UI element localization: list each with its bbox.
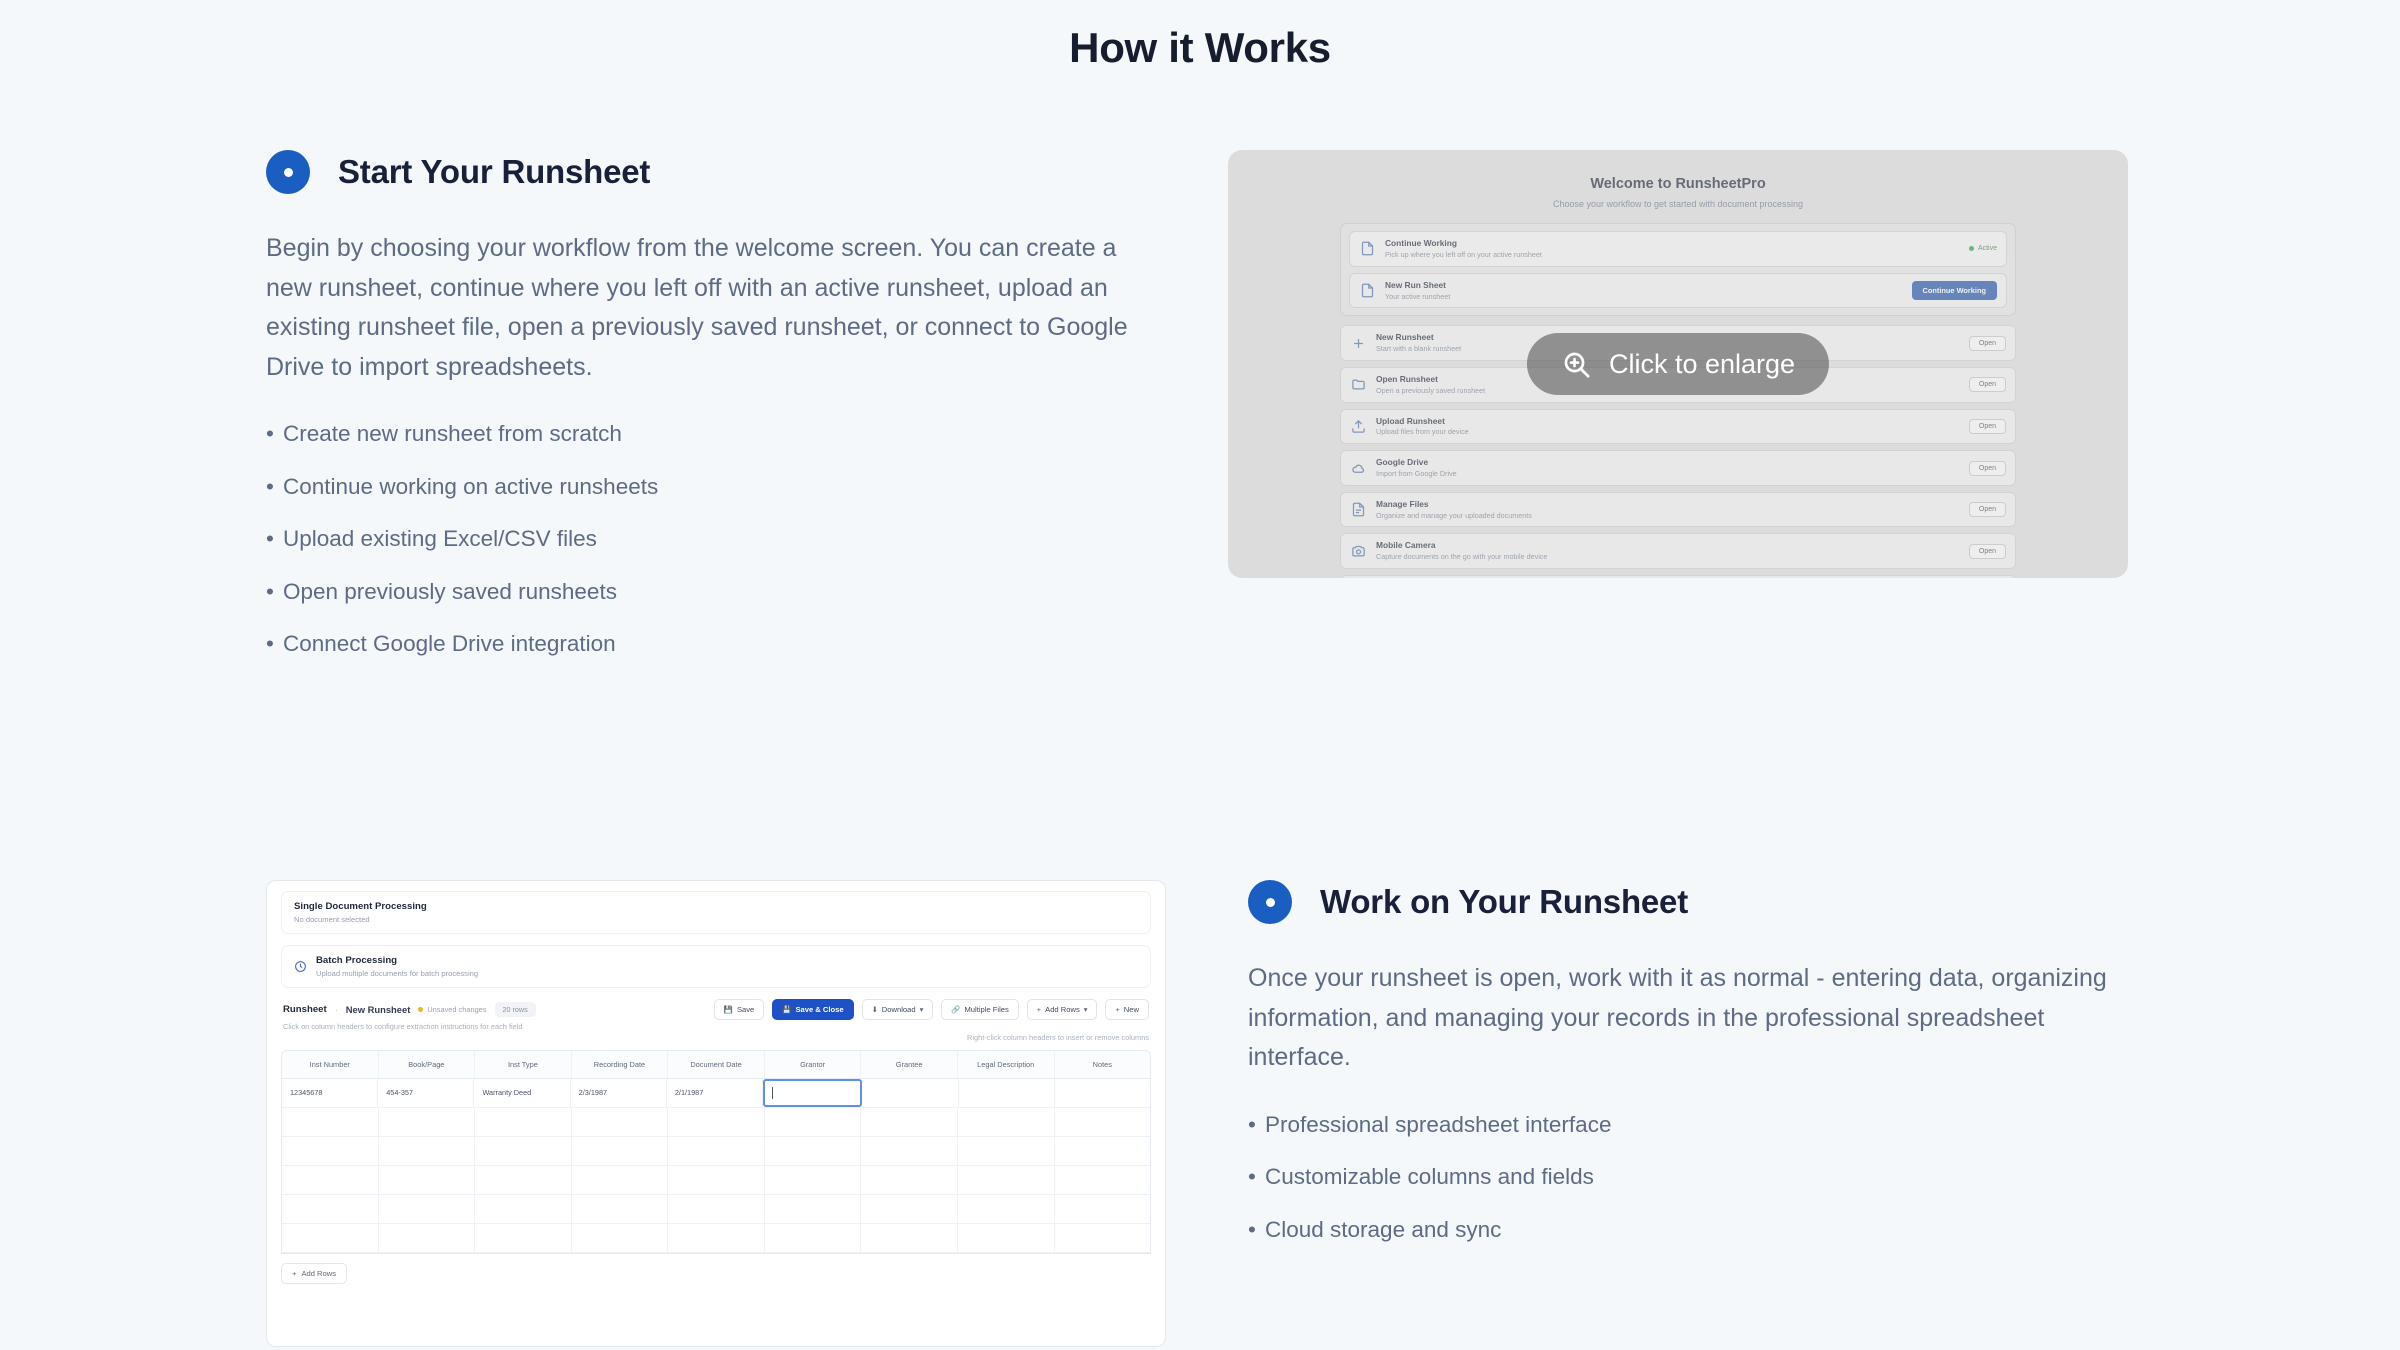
save-button[interactable]: 💾 Save xyxy=(714,999,765,1020)
table-row xyxy=(282,1195,1150,1224)
unsaved-pip-icon xyxy=(418,1007,423,1012)
table-cell[interactable] xyxy=(765,1195,862,1223)
status-badge: Active xyxy=(1969,245,1997,252)
welcome-option-open-button[interactable]: Open xyxy=(1969,377,2006,392)
welcome-mock-continue-texts: Continue Working Pick up where you left … xyxy=(1385,238,1960,260)
save-and-close-button-label: Save & Close xyxy=(795,1005,843,1014)
column-header-grantee[interactable]: Grantee xyxy=(861,1051,958,1078)
table-cell[interactable] xyxy=(861,1224,958,1252)
welcome-mock-active-sheet-texts: New Run Sheet Your active runsheet xyxy=(1385,280,1903,302)
section-start-your-runsheet: Start Your Runsheet Begin by choosing yo… xyxy=(266,150,2126,686)
download-button[interactable]: ⬇ Download ▾ xyxy=(862,999,934,1020)
table-row: 12345678 454-357 Warranty Deed 2/3/1987 … xyxy=(282,1079,1150,1108)
welcome-mock-subtitle: Choose your workflow to get started with… xyxy=(1340,199,2016,209)
welcome-option-name: Mobile Camera xyxy=(1376,540,1960,551)
single-doc-subtitle: No document selected xyxy=(294,915,1138,924)
continue-working-button[interactable]: Continue Working xyxy=(1912,281,1998,300)
table-cell[interactable] xyxy=(668,1166,765,1194)
table-cell[interactable] xyxy=(475,1224,572,1252)
table-cell[interactable] xyxy=(379,1224,476,1252)
table-cell[interactable] xyxy=(475,1108,572,1136)
welcome-option-upload-runsheet[interactable]: Upload Runsheet Upload files from your d… xyxy=(1340,409,2016,445)
list-item: Customizable columns and fields xyxy=(1248,1166,2128,1189)
welcome-option-texts: Mobile Camera Capture documents on the g… xyxy=(1376,540,1960,562)
table-cell[interactable] xyxy=(1055,1079,1150,1107)
table-cell[interactable] xyxy=(765,1108,862,1136)
table-cell[interactable] xyxy=(475,1195,572,1223)
table-cell[interactable] xyxy=(668,1224,765,1252)
table-cell[interactable] xyxy=(959,1079,1055,1107)
runsheet-screenshot-thumbnail[interactable]: Single Document Processing No document s… xyxy=(266,880,1166,1347)
download-icon: ⬇ xyxy=(872,1005,878,1014)
section-1-heading-row: Start Your Runsheet xyxy=(266,150,1146,194)
table-cell[interactable] xyxy=(572,1224,669,1252)
unsaved-changes-label: Unsaved changes xyxy=(427,1005,486,1014)
welcome-option-texts: Google Drive Import from Google Drive xyxy=(1376,457,1960,479)
how-it-works-page: How it Works Start Your Runsheet Begin b… xyxy=(0,0,2400,1350)
step-dot-icon xyxy=(266,150,310,194)
multiple-files-button[interactable]: 🔗 Multiple Files xyxy=(941,999,1019,1020)
section-2-media-column: Single Document Processing No document s… xyxy=(266,880,1166,1347)
table-cell[interactable]: Warranty Deed xyxy=(474,1079,570,1107)
table-cell[interactable] xyxy=(379,1108,476,1136)
section-2-bullet-list: Professional spreadsheet interface Custo… xyxy=(1248,1114,2128,1242)
welcome-option-name: Google Drive xyxy=(1376,457,1960,468)
breadcrumb-current: New Runsheet xyxy=(346,1004,411,1015)
column-header-inst-number[interactable]: Inst Number xyxy=(282,1051,379,1078)
batch-subtitle: Upload multiple documents for batch proc… xyxy=(316,969,478,978)
plus-icon xyxy=(1350,335,1367,352)
save-icon: 💾 xyxy=(782,1005,791,1014)
add-rows-button-label: Add Rows xyxy=(1045,1005,1080,1014)
table-cell[interactable] xyxy=(1055,1195,1151,1223)
table-cell[interactable] xyxy=(765,1137,862,1165)
list-item: Continue working on active runsheets xyxy=(266,476,1146,499)
add-rows-footer-button[interactable]: + Add Rows xyxy=(281,1263,347,1284)
runsheet-mock: Single Document Processing No document s… xyxy=(267,881,1165,1346)
section-1-bullet-list: Create new runsheet from scratch Continu… xyxy=(266,423,1146,656)
breadcrumb: Runsheet · New Runsheet Unsaved changes … xyxy=(283,1002,536,1017)
section-1-title: Start Your Runsheet xyxy=(338,153,650,191)
table-cell[interactable] xyxy=(765,1166,862,1194)
runsheet-toolbar-row: Runsheet · New Runsheet Unsaved changes … xyxy=(283,999,1149,1020)
table-cell[interactable] xyxy=(379,1137,476,1165)
add-rows-footer-label: Add Rows xyxy=(301,1269,336,1278)
table-cell[interactable] xyxy=(572,1137,669,1165)
list-item: Cloud storage and sync xyxy=(1248,1219,2128,1242)
welcome-option-open-button[interactable]: Open xyxy=(1969,336,2006,351)
runsheet-action-buttons: 💾 Save 💾 Save & Close ⬇ Download ▾ xyxy=(714,999,1149,1020)
file-icon xyxy=(1350,501,1367,518)
table-cell[interactable] xyxy=(861,1108,958,1136)
table-cell[interactable] xyxy=(958,1166,1055,1194)
table-header-row: Inst Number Book/Page Inst Type Recordin… xyxy=(282,1051,1150,1079)
column-header-recording-date[interactable]: Recording Date xyxy=(572,1051,669,1078)
multiple-files-button-label: Multiple Files xyxy=(964,1005,1008,1014)
unsaved-changes-badge: Unsaved changes xyxy=(418,1005,486,1014)
welcome-mock-continue-panel: Continue Working Pick up where you left … xyxy=(1340,223,2016,316)
magnifier-plus-icon xyxy=(1561,349,1592,380)
table-cell[interactable] xyxy=(861,1195,958,1223)
table-cell[interactable] xyxy=(1055,1108,1151,1136)
chevron-down-icon: ▾ xyxy=(1084,1005,1088,1014)
section-2-title: Work on Your Runsheet xyxy=(1320,883,1688,921)
welcome-option-manage-files[interactable]: Manage Files Organize and manage your up… xyxy=(1340,492,2016,528)
table-row xyxy=(282,1108,1150,1137)
welcome-option-open-button[interactable]: Open xyxy=(1969,419,2006,434)
folder-icon xyxy=(1350,376,1367,393)
table-cell[interactable] xyxy=(958,1108,1055,1136)
single-doc-title: Single Document Processing xyxy=(294,901,1138,912)
table-cell[interactable] xyxy=(958,1224,1055,1252)
breadcrumb-root[interactable]: Runsheet xyxy=(283,1004,327,1015)
table-cell[interactable] xyxy=(282,1195,379,1223)
column-header-document-date[interactable]: Document Date xyxy=(668,1051,765,1078)
status-pip-icon xyxy=(1969,246,1974,251)
table-cell[interactable]: 12345678 xyxy=(282,1079,378,1107)
step-dot-icon xyxy=(1248,880,1292,924)
table-cell[interactable] xyxy=(668,1195,765,1223)
table-cell[interactable] xyxy=(1055,1137,1151,1165)
table-cell[interactable] xyxy=(958,1195,1055,1223)
runsheet-table: Inst Number Book/Page Inst Type Recordin… xyxy=(281,1050,1151,1254)
welcome-mock-continue-name: Continue Working xyxy=(1385,238,1960,249)
save-icon: 💾 xyxy=(724,1005,733,1014)
table-cell[interactable] xyxy=(765,1224,862,1252)
plus-icon: + xyxy=(292,1269,296,1278)
welcome-option-name: Upload Runsheet xyxy=(1376,416,1960,427)
welcome-option-desc: Capture documents on the go with your mo… xyxy=(1376,552,1960,562)
welcome-mock-continue-row[interactable]: Continue Working Pick up where you left … xyxy=(1349,231,2007,267)
section-1-paragraph: Begin by choosing your workflow from the… xyxy=(266,229,1146,387)
table-cell[interactable] xyxy=(958,1137,1055,1165)
table-row xyxy=(282,1137,1150,1166)
welcome-option-texts: Upload Runsheet Upload files from your d… xyxy=(1376,416,1960,438)
table-cell[interactable] xyxy=(282,1166,379,1194)
batch-processing-card[interactable]: Batch Processing Upload multiple documen… xyxy=(281,945,1151,988)
welcome-option-desc: Upload files from your device xyxy=(1376,427,1960,437)
table-cell[interactable] xyxy=(1055,1224,1151,1252)
table-cell[interactable] xyxy=(282,1108,379,1136)
table-cell[interactable]: 454-357 xyxy=(378,1079,474,1107)
table-cell[interactable] xyxy=(861,1137,958,1165)
save-button-label: Save xyxy=(737,1005,754,1014)
list-item: Upload existing Excel/CSV files xyxy=(266,528,1146,551)
welcome-option-mobile-camera[interactable]: Mobile Camera Capture documents on the g… xyxy=(1340,533,2016,569)
welcome-mock-continue-desc: Pick up where you left off on your activ… xyxy=(1385,250,1960,260)
link-icon: 🔗 xyxy=(951,1005,960,1014)
document-icon xyxy=(1359,282,1376,299)
column-header-notes[interactable]: Notes xyxy=(1055,1051,1151,1078)
section-2-heading-row: Work on Your Runsheet xyxy=(1248,880,2128,924)
table-cell[interactable] xyxy=(668,1137,765,1165)
list-item: Professional spreadsheet interface xyxy=(1248,1114,2128,1137)
column-header-grantor[interactable]: Grantor xyxy=(765,1051,862,1078)
chevron-down-icon: ▾ xyxy=(920,1005,924,1014)
section-work-on-your-runsheet: Single Document Processing No document s… xyxy=(266,880,2126,1347)
section-2-paragraph: Once your runsheet is open, work with it… xyxy=(1248,959,2118,1078)
breadcrumb-separator: · xyxy=(335,1005,338,1015)
table-cell[interactable] xyxy=(572,1108,669,1136)
plus-icon: + xyxy=(1115,1005,1119,1014)
welcome-option-open-button[interactable]: Open xyxy=(1969,544,2006,559)
welcome-option-google-drive[interactable]: Google Drive Import from Google Drive Op… xyxy=(1340,450,2016,486)
step-dot-inner xyxy=(284,168,293,177)
table-cell[interactable] xyxy=(475,1166,572,1194)
table-cell[interactable] xyxy=(668,1108,765,1136)
download-button-label: Download xyxy=(882,1005,916,1014)
upload-icon xyxy=(1350,418,1367,435)
welcome-mock-active-sheet-name: New Run Sheet xyxy=(1385,280,1903,291)
plus-icon: + xyxy=(1037,1005,1041,1014)
welcome-option-open-button[interactable]: Open xyxy=(1969,502,2006,517)
column-header-hint: Click on column headers to configure ext… xyxy=(283,1022,1149,1031)
table-cell-active[interactable] xyxy=(763,1079,862,1107)
save-and-close-button[interactable]: 💾 Save & Close xyxy=(772,999,853,1020)
new-button[interactable]: + New xyxy=(1105,999,1149,1020)
table-cell[interactable] xyxy=(379,1166,476,1194)
welcome-screenshot-thumbnail[interactable]: Welcome to RunsheetPro Choose your workf… xyxy=(1228,150,2128,578)
document-icon xyxy=(1359,240,1376,257)
page-title: How it Works xyxy=(0,0,2400,72)
table-cell[interactable] xyxy=(572,1166,669,1194)
list-item: Open previously saved runsheets xyxy=(266,581,1146,604)
column-header-legal-description[interactable]: Legal Description xyxy=(958,1051,1055,1078)
batch-title: Batch Processing xyxy=(316,955,478,966)
welcome-mock-active-sheet-desc: Your active runsheet xyxy=(1385,292,1903,302)
table-cell[interactable] xyxy=(475,1137,572,1165)
batch-icon xyxy=(294,960,307,973)
table-cell[interactable] xyxy=(862,1079,958,1107)
add-rows-button[interactable]: + Add Rows ▾ xyxy=(1027,999,1098,1020)
table-cell[interactable] xyxy=(379,1195,476,1223)
welcome-mock-active-sheet-row[interactable]: New Run Sheet Your active runsheet Conti… xyxy=(1349,273,2007,309)
table-cell[interactable] xyxy=(282,1224,379,1252)
welcome-option-column-preferences[interactable]: Column Preferences Customize your defaul… xyxy=(1340,575,2016,578)
table-cell[interactable] xyxy=(1055,1166,1151,1194)
section-2-text-column: Work on Your Runsheet Once your runsheet… xyxy=(1248,880,2128,1271)
column-header-book-page[interactable]: Book/Page xyxy=(379,1051,476,1078)
welcome-option-open-button[interactable]: Open xyxy=(1969,461,2006,476)
section-1-media-column: Welcome to RunsheetPro Choose your workf… xyxy=(1228,150,2128,578)
column-header-inst-type[interactable]: Inst Type xyxy=(475,1051,572,1078)
list-item: Connect Google Drive integration xyxy=(266,633,1146,656)
section-1-text-column: Start Your Runsheet Begin by choosing yo… xyxy=(266,150,1146,686)
table-row xyxy=(282,1166,1150,1195)
table-cell[interactable] xyxy=(572,1195,669,1223)
right-click-hint: Right-click column headers to insert or … xyxy=(283,1033,1149,1042)
table-cell[interactable]: 2/1/1987 xyxy=(667,1079,763,1107)
rows-count-chip: 20 rows xyxy=(495,1002,536,1017)
welcome-mock-title: Welcome to RunsheetPro xyxy=(1340,176,2016,192)
batch-card-texts: Batch Processing Upload multiple documen… xyxy=(316,955,478,978)
step-dot-inner xyxy=(1266,898,1275,907)
welcome-option-texts: Manage Files Organize and manage your up… xyxy=(1376,499,1960,521)
table-cell[interactable] xyxy=(861,1166,958,1194)
welcome-option-desc: Import from Google Drive xyxy=(1376,469,1960,479)
list-item: Create new runsheet from scratch xyxy=(266,423,1146,446)
click-to-enlarge-label: Click to enlarge xyxy=(1609,349,1795,380)
new-button-label: New xyxy=(1124,1005,1139,1014)
table-row xyxy=(282,1224,1150,1253)
click-to-enlarge-overlay[interactable]: Click to enlarge xyxy=(1527,333,1829,395)
table-cell[interactable]: 2/3/1987 xyxy=(571,1079,667,1107)
welcome-option-desc: Organize and manage your uploaded docume… xyxy=(1376,511,1960,521)
single-document-processing-card[interactable]: Single Document Processing No document s… xyxy=(281,891,1151,934)
status-badge-label: Active xyxy=(1978,245,1997,252)
cloud-icon xyxy=(1350,460,1367,477)
welcome-option-name: Manage Files xyxy=(1376,499,1960,510)
table-cell[interactable] xyxy=(282,1137,379,1165)
camera-icon xyxy=(1350,543,1367,560)
